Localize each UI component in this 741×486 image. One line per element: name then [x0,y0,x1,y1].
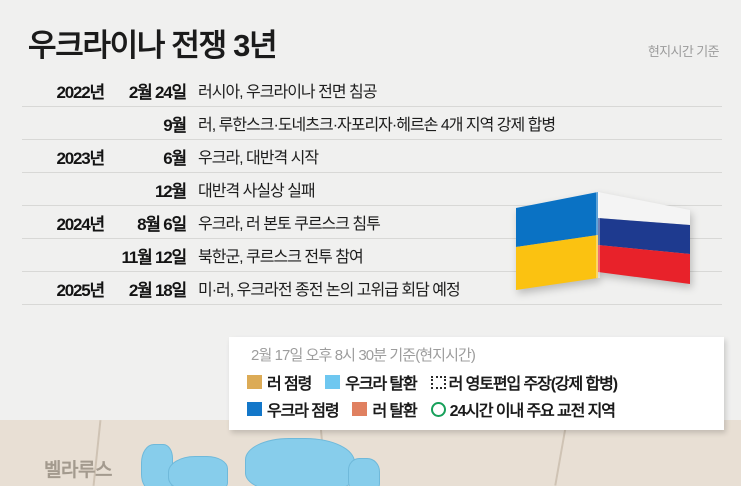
timeline-row: 9월 러, 루한스크·도네츠크·자포리자·헤르손 4개 지역 강제 합병 [22,106,722,139]
russia-flag-icon [598,192,690,284]
timeline-event: 우크라, 대반격 시작 [198,144,318,168]
timeline-row: 2022년 2월 24일 러시아, 우크라이나 전면 침공 [22,74,722,106]
timeline-date: 8월 6일 [104,210,186,235]
timeline-year: 2024년 [22,210,104,235]
map-region-water-2 [168,456,228,486]
legend-label: 우크라 점령 [267,397,338,421]
timeline-year: 2022년 [22,78,104,103]
legend-as-of-text: 2월 17일 오후 8시 30분 기준(현지시간) [251,344,475,365]
legend-label: 우크라 탈환 [345,370,416,394]
swatch-circle-combat-zone-icon [431,402,446,417]
timeline-date: 11월 12일 [104,243,186,268]
legend-label: 러 영토편입 주장(강제 합병) [449,370,617,394]
timeline-event: 미·러, 우크라전 종전 논의 고위급 회담 예정 [198,276,460,300]
legend-row-1: 러 점령 우크라 탈환 러 영토편입 주장(강제 합병) [247,370,631,394]
header-note: 현지시간 기준 [648,41,719,60]
legend-item-ukraine-retaken: 우크라 탈환 [325,370,416,394]
timeline-date: 2월 18일 [104,276,186,301]
timeline-date: 2월 24일 [104,78,186,103]
header: 우크라이나 전쟁 3년 현지시간 기준 [0,0,741,72]
timeline-row: 2023년 6월 우크라, 대반격 시작 [22,139,722,172]
timeline-date: 6월 [104,144,186,169]
timeline-event: 러시아, 우크라이나 전면 침공 [198,78,376,102]
timeline-date: 9월 [104,111,186,136]
legend-item-active-combat-zone: 24시간 이내 주요 교전 지역 [431,397,615,421]
legend-label: 러 점령 [267,370,311,394]
infographic-root: 벨라루스 우크라이나 전쟁 3년 현지시간 기준 2022년 2월 24일 러시… [0,0,741,486]
legend-row-2: 우크라 점령 러 탈환 24시간 이내 주요 교전 지역 [247,397,629,421]
legend-item-russia-annexation-claim: 러 영토편입 주장(강제 합병) [431,370,617,394]
swatch-russia-occupied-icon [247,375,262,389]
timeline-event: 대반격 사실상 실패 [198,177,315,201]
ukraine-flag-icon [516,192,598,290]
legend-label: 24시간 이내 주요 교전 지역 [450,397,615,421]
swatch-russia-retaken-icon [352,402,367,416]
timeline-year: 2023년 [22,144,104,169]
legend-item-ukraine-occupied: 우크라 점령 [247,397,338,421]
legend-item-russia-occupied: 러 점령 [247,370,311,394]
map-label-belarus: 벨라루스 [44,455,112,482]
map-region-water-3 [245,438,355,486]
legend-item-russia-retaken: 러 탈환 [352,397,416,421]
swatch-ukraine-occupied-icon [247,402,262,416]
legend-label: 러 탈환 [372,397,416,421]
swatch-dashed-annexation-icon [431,376,446,389]
timeline-event: 러, 루한스크·도네츠크·자포리자·헤르손 4개 지역 강제 합병 [198,111,555,135]
timeline-date: 12월 [104,177,186,202]
swatch-ukraine-retaken-icon [325,375,340,389]
legend-panel: 2월 17일 오후 8시 30분 기준(현지시간) 러 점령 우크라 탈환 러 … [229,337,724,430]
timeline-event: 우크라, 러 본토 쿠르스크 침투 [198,210,380,234]
timeline-event: 북한군, 쿠르스크 전투 참여 [198,243,363,267]
timeline-year: 2025년 [22,276,104,301]
ukraine-russia-flags-graphic [512,192,694,290]
map-region-water-4 [348,458,380,486]
page-title: 우크라이나 전쟁 3년 [28,20,276,65]
